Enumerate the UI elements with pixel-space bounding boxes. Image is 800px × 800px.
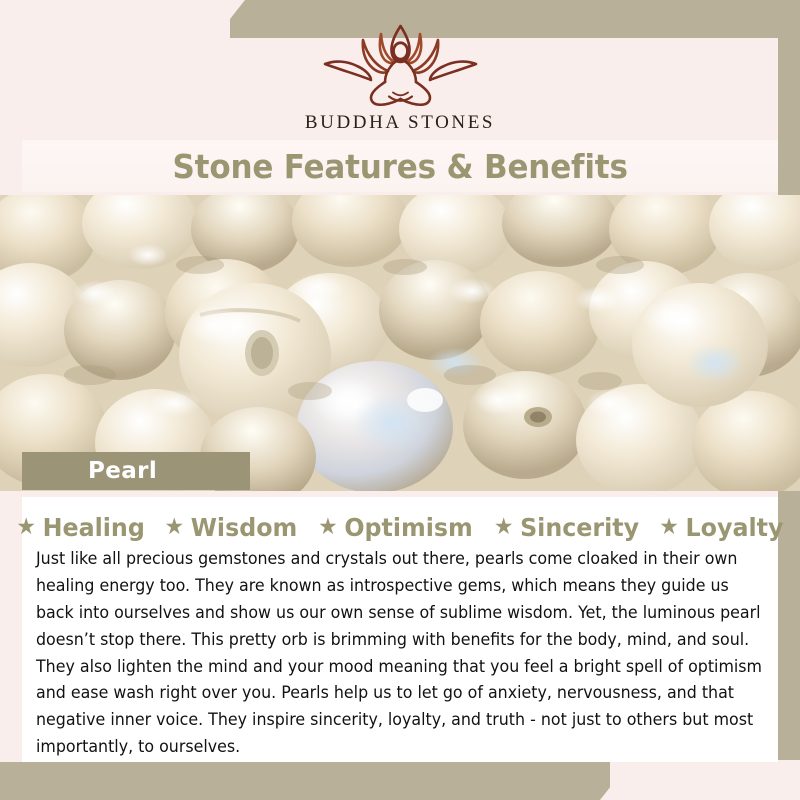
keyword-label: Healing	[43, 513, 145, 542]
lotus-meditation-icon	[313, 20, 488, 108]
star-icon: ★	[659, 516, 679, 539]
star-icon: ★	[165, 516, 185, 539]
keyword-label: Wisdom	[191, 513, 298, 542]
keyword-sincerity: ★ Sincerity	[494, 513, 639, 542]
description-text: Just like all precious gemstones and cry…	[36, 546, 763, 761]
stone-name-label: Pearl	[22, 458, 157, 484]
keyword-label: Optimism	[345, 513, 473, 542]
keyword-optimism: ★ Optimism	[318, 513, 473, 542]
keyword-loyalty: ★ Loyalty	[659, 513, 783, 542]
keyword-healing: ★ Healing	[17, 513, 145, 542]
brand-logo: BUDDHA STONES	[0, 20, 800, 134]
star-icon: ★	[318, 516, 338, 539]
title-banner: Stone Features & Benefits	[22, 140, 778, 192]
description-card: ★ Healing ★ Wisdom ★ Optimism ★ Sincerit…	[22, 497, 778, 762]
keyword-label: Sincerity	[520, 513, 639, 542]
pearl-photo	[0, 195, 800, 491]
keyword-wisdom: ★ Wisdom	[165, 513, 298, 542]
star-icon: ★	[17, 516, 37, 539]
infographic-content: BUDDHA STONES Stone Features & Benefits	[0, 0, 800, 800]
keyword-label: Loyalty	[686, 513, 784, 542]
brand-name: BUDDHA STONES	[305, 112, 495, 134]
page-title: Stone Features & Benefits	[172, 147, 627, 186]
keyword-list: ★ Healing ★ Wisdom ★ Optimism ★ Sincerit…	[36, 513, 764, 542]
pearl-photo-graphic	[0, 195, 800, 491]
star-icon: ★	[494, 516, 514, 539]
stone-name-tag: Pearl	[22, 452, 250, 490]
